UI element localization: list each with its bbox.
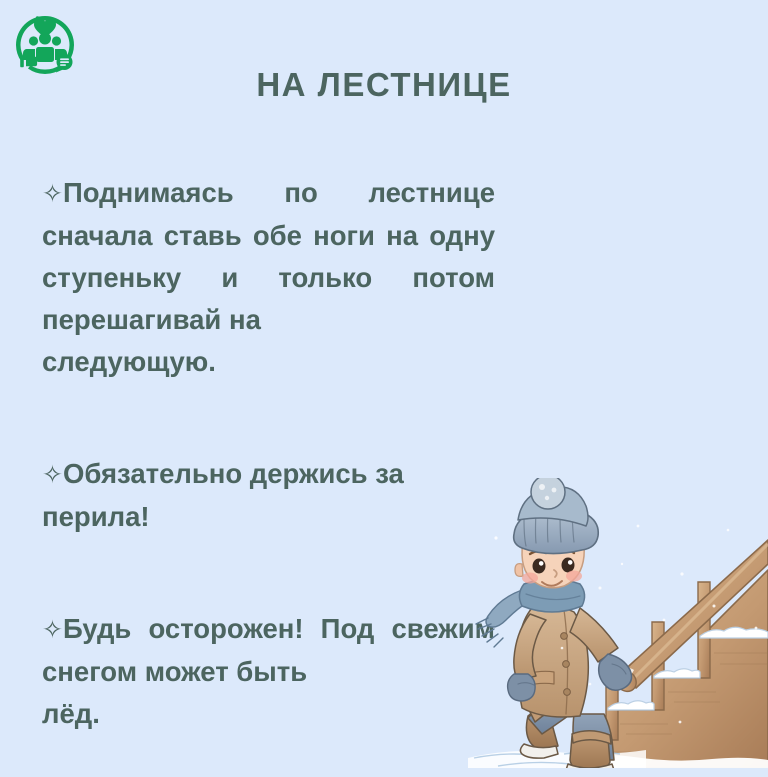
boy-figure — [476, 478, 632, 768]
safety-tip-1-text: Поднимаясь по лестнице сначала ставь обе… — [42, 177, 495, 335]
snow-flecks — [494, 525, 757, 724]
page-title: НА ЛЕСТНИЦЕ — [0, 66, 768, 104]
sparkle-bullet-icon: ✧ — [42, 180, 63, 208]
sparkle-bullet-icon: ✧ — [42, 616, 63, 644]
wooden-staircase — [572, 540, 768, 768]
boy-climbing-snowy-stairs-illustration — [468, 478, 768, 768]
safety-tip-1-last-line: следующую. — [42, 341, 495, 383]
safety-tip-1: ✧Поднимаясь по лестнице сначала ставь об… — [42, 172, 495, 425]
safety-tips-list: ✧Поднимаясь по лестнице сначала ставь об… — [42, 172, 495, 777]
safety-tip-2: ✧Обязательно держись заперила! — [42, 453, 495, 580]
safety-tip-3-last-line: лёд. — [42, 693, 495, 735]
safety-tip-3-text: Будь осторожен! Под свежим снегом может … — [42, 613, 495, 687]
safety-tip-3: ✧Будь осторожен! Под свежим снегом может… — [42, 608, 495, 777]
safety-tip-2-last-line: перила! — [42, 496, 495, 538]
sparkle-bullet-icon: ✧ — [42, 461, 63, 489]
safety-tip-2-text: Обязательно держись за — [63, 458, 404, 489]
